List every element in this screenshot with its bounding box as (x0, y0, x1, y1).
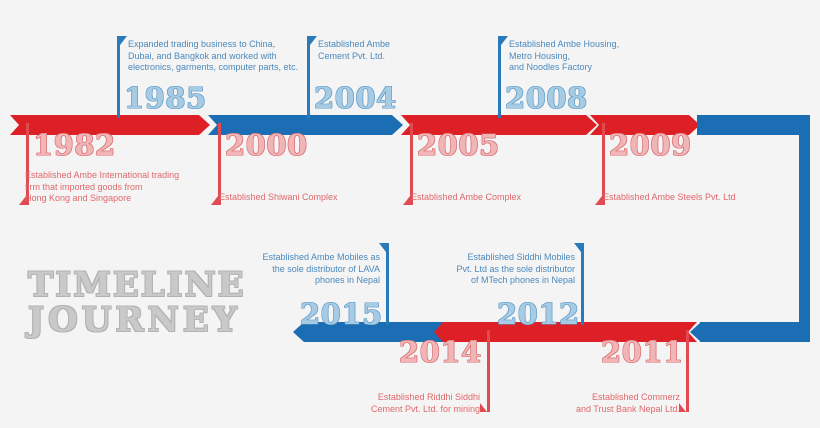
stem-flag-2005 (403, 196, 410, 205)
year-label-2008: 2008 (505, 84, 588, 113)
stem-flag-2012 (574, 243, 581, 252)
event-description-1985: Expanded trading business to China, Duba… (128, 39, 333, 74)
stem-2004 (307, 36, 310, 118)
top-bar-tail (697, 115, 810, 135)
stem-flag-2011 (679, 403, 686, 412)
stem-2008 (498, 36, 501, 118)
stem-2011 (686, 330, 689, 412)
infographic-title: TIMELINE JOURNEY (28, 268, 278, 337)
stem-2014 (487, 330, 490, 412)
event-description-1982: Established Ambe International trading f… (25, 170, 205, 205)
stem-flag-2008 (501, 36, 508, 45)
title-line-journey: JOURNEY (28, 303, 278, 338)
stem-flag-2015 (379, 243, 386, 252)
timeline-infographic: 1982 Established Ambe International trad… (0, 0, 820, 428)
year-label-2005: 2005 (417, 131, 500, 160)
event-description-2011: Established Commerz and Trust Bank Nepal… (500, 392, 680, 415)
year-label-1982: 1982 (33, 131, 116, 160)
event-description-2014: Established Riddhi Siddhi Cement Pvt. Lt… (300, 392, 480, 415)
year-label-2015: 2015 (300, 300, 383, 329)
stem-flag-2009 (595, 196, 602, 205)
year-label-2000: 2000 (225, 131, 308, 160)
event-description-2000: Established Shiwani Complex (219, 192, 399, 204)
year-label-2014: 2014 (399, 338, 482, 367)
stem-flag-2004 (310, 36, 317, 45)
year-label-2009: 2009 (609, 131, 692, 160)
stem-1985 (117, 36, 120, 118)
event-description-2004: Established Ambe Cement Pvt. Ltd. (318, 39, 478, 62)
event-description-2012: Established Siddhi Mobiles Pvt. Ltd as t… (395, 252, 575, 287)
stem-2015 (386, 243, 389, 325)
event-description-2008: Established Ambe Housing, Metro Housing,… (509, 39, 684, 74)
right-wrap-connector (799, 115, 810, 330)
year-label-2004: 2004 (314, 84, 397, 113)
year-label-2011: 2011 (601, 338, 684, 367)
event-description-2009: Established Ambe Steels Pvt. Ltd (603, 192, 803, 204)
year-label-2012: 2012 (497, 300, 580, 329)
stem-flag-2014 (480, 403, 487, 412)
stem-flag-2000 (211, 196, 218, 205)
year-label-1985: 1985 (124, 84, 207, 113)
event-description-2005: Established Ambe Complex (411, 192, 591, 204)
stem-2012 (581, 243, 584, 325)
bottom-bar-segment-entry (690, 322, 805, 342)
title-line-timeline: TIMELINE (28, 268, 278, 303)
stem-flag-1985 (120, 36, 127, 45)
